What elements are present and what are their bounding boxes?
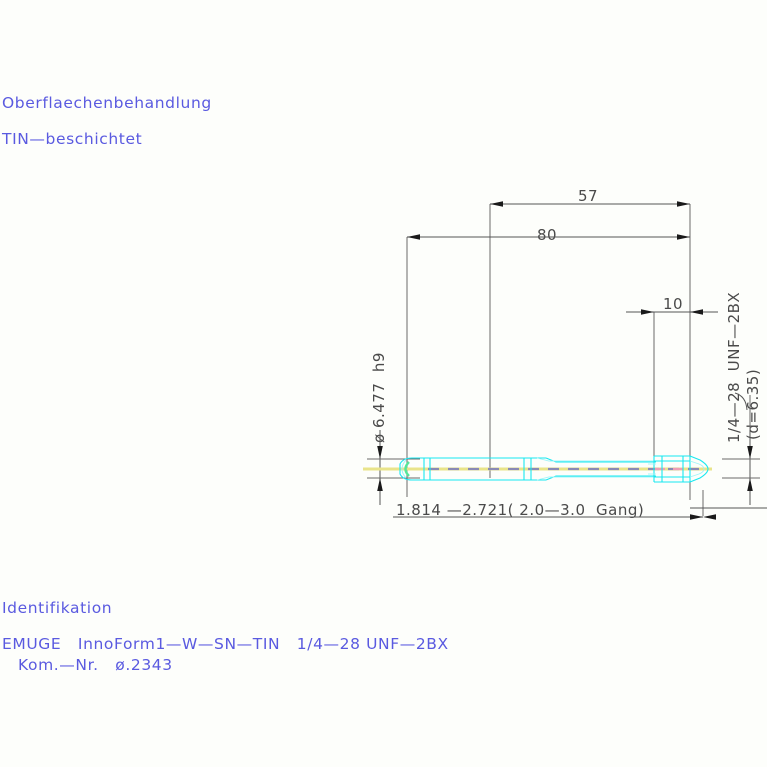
dimension-line-flute-length — [490, 201, 690, 207]
tool-neck-top-inner — [537, 458, 656, 461]
dimension-line-overall-length — [407, 234, 690, 240]
dimension-line-thread-length — [626, 309, 718, 315]
technical-drawing-canvas: Oberflaechenbehandlung TIN—beschichtet I… — [0, 0, 767, 767]
dimension-line-pitch-note — [393, 508, 767, 520]
tool-neck-bottom-inner — [537, 477, 656, 480]
leader-thread-diameter — [722, 393, 760, 505]
drawing-geometry — [0, 0, 767, 767]
